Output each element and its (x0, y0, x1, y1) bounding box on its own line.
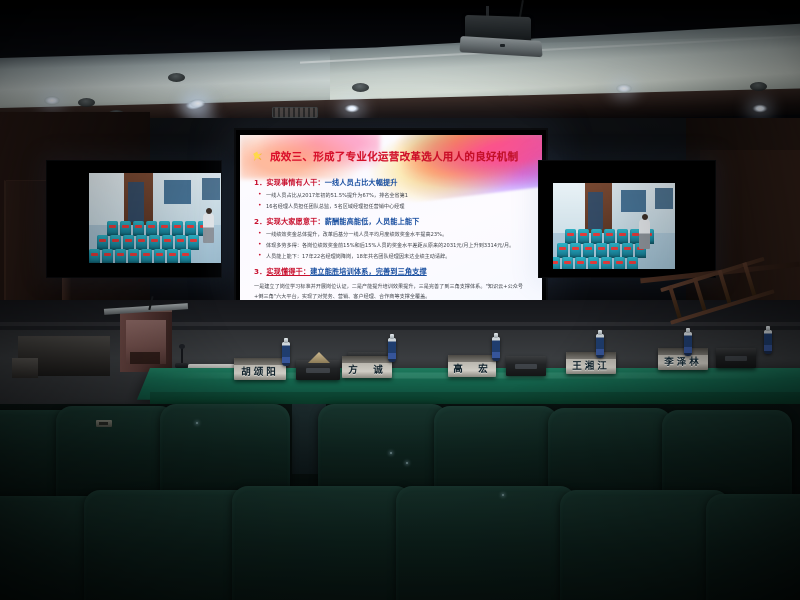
audience-seating-area (0, 404, 800, 600)
feed-seat-row (107, 221, 209, 236)
feed-seat (149, 235, 160, 250)
slide-point-heading: 3．实现懂得干：建立能胜培训体系，完善到三角支撑 (254, 267, 532, 277)
nameplate: 王湘江 (566, 352, 616, 374)
feed-seat (578, 229, 589, 244)
downlight-icon (44, 96, 60, 105)
feed-seat (136, 235, 147, 250)
ladder-step (742, 262, 756, 296)
water-bottle (492, 337, 500, 361)
feed-seat (141, 249, 152, 263)
slide-bullet: 16名经理人员担任团队总监，5名区域经理担任营销中心经理 (254, 203, 532, 210)
feed-window-icon (164, 180, 191, 203)
feed-window-icon (202, 178, 221, 200)
nameplate-label: 李泽林 (664, 354, 702, 368)
slide-bullet: 人员能上能下：17年22名经理岗降岗，18年共名团队经理因未达业绩主动请辞。 (254, 253, 532, 260)
downlight-icon (752, 104, 768, 113)
stage-equipment-case-small (12, 358, 38, 378)
water-bottle (282, 342, 290, 366)
feed-seat (146, 221, 157, 236)
seat-number-tag (96, 420, 112, 427)
ceiling-speaker-icon (750, 82, 767, 91)
downlight-icon (616, 84, 632, 93)
nameplate: 高 宏 (448, 355, 496, 377)
audience-seat (706, 494, 800, 600)
feed-seat (123, 235, 134, 250)
feed-seat (601, 257, 612, 269)
water-bottle (764, 330, 772, 354)
audience-seat (560, 490, 730, 600)
table-microphone (181, 348, 183, 364)
feed-seat (180, 249, 191, 263)
left-led-screen[interactable] (46, 160, 222, 278)
feed-seat (604, 229, 615, 244)
lectern-lower-panel (130, 352, 160, 364)
feed-seat (617, 229, 628, 244)
ceiling-speaker-icon (352, 83, 369, 92)
ceiling-speaker-icon (168, 73, 185, 82)
feed-seat (575, 257, 586, 269)
nameplate-label: 高 宏 (453, 361, 491, 375)
feed-seat (614, 257, 625, 269)
feed-seat (622, 243, 633, 258)
water-bottle (596, 334, 604, 358)
feed-seat (583, 243, 594, 258)
feed-seat (609, 243, 620, 258)
feed-seat (588, 257, 599, 269)
right-led-screen[interactable] (538, 160, 716, 278)
feed-person (203, 213, 214, 243)
feed-seat (110, 235, 121, 250)
feed-door-icon (588, 192, 603, 230)
nameplate: 方 诚 (342, 356, 392, 378)
tabletop-device (716, 348, 756, 368)
feed-seat (591, 229, 602, 244)
feed-seat (154, 249, 165, 263)
feed-seat (107, 221, 118, 236)
ceiling-speaker-icon (78, 98, 95, 107)
feed-seat-row (89, 249, 191, 263)
slide-bullet: 一线绩效奖金总体提升，改革后基分一线人员平均月度绩效奖金水平提高23%。 (254, 231, 532, 238)
slide-body: 1．实现事情有人干：一线人员占比大幅提升 一线人员占比从2017年初的51.5%… (254, 171, 532, 302)
feed-seat (115, 249, 126, 263)
feed-seat (172, 221, 183, 236)
feed-seat-row (97, 235, 199, 250)
left-camera-feed (89, 173, 222, 263)
water-bottle (388, 338, 396, 362)
nameplate: 胡颂阳 (234, 358, 286, 380)
downlight-icon (344, 104, 360, 113)
seat-highlight-glint (196, 422, 198, 424)
feed-seat (175, 235, 186, 250)
feed-seat (557, 243, 568, 258)
feed-seat (562, 257, 573, 269)
tabletop-device (296, 360, 340, 380)
slide-bullet: 体现多劳多得：各岗位绩效奖金前15%和后15%人员的奖金水平差距从原来的2031… (254, 242, 532, 249)
party-emblem-icon (250, 149, 265, 164)
feed-seat (159, 221, 170, 236)
feed-window-icon (621, 190, 645, 212)
presentation-slide: 成效三、形成了专业化运营改革选人用人的良好机制 1．实现事情有人干：一线人员占比… (240, 135, 542, 303)
lectern[interactable] (120, 310, 172, 372)
slide-point-heading: 1．实现事情有人干：一线人员占比大幅提升 (254, 178, 532, 188)
downlight-icon (190, 99, 206, 108)
feed-seat-row (553, 257, 638, 269)
projector-lens-icon (500, 44, 505, 47)
nameplate-label: 王湘江 (572, 358, 610, 372)
slide-title: 成效三、形成了专业化运营改革选人用人的良好机制 (270, 149, 518, 164)
tabletop-device (506, 356, 546, 376)
feed-seat (97, 235, 108, 250)
seat-highlight-glint (390, 452, 392, 454)
slide-title-row: 成效三、形成了专业化运营改革选人用人的良好机制 (250, 146, 534, 166)
seat-highlight-glint (502, 494, 504, 496)
water-bottle (684, 332, 692, 356)
feed-seat (120, 221, 131, 236)
feed-seat (89, 249, 100, 263)
slide-point-heading: 2．实现大家愿意干：薪酬能高能低，人员能上能下 (254, 217, 532, 227)
slide-bullet: 一线人员占比从2017年初的51.5%提升为67%，排名全省第1 (254, 192, 532, 199)
feed-seat (553, 257, 560, 269)
seat-highlight-glint (406, 462, 408, 464)
ceiling-air-vent (272, 107, 318, 118)
feed-wall-light (89, 173, 124, 225)
main-led-screen[interactable]: 成效三、形成了专业化运营改革选人用人的良好机制 1．实现事情有人干：一线人员占比… (234, 128, 548, 310)
audience-seat (232, 486, 412, 600)
feed-person (639, 219, 650, 249)
ladder-step (693, 277, 707, 311)
ladder-step (668, 285, 682, 319)
feed-wall-light (553, 183, 585, 233)
feed-seat (565, 229, 576, 244)
feed-door-icon (128, 182, 144, 222)
feed-seat (570, 243, 581, 258)
audience-seat (84, 490, 254, 600)
feed-seat (188, 235, 199, 250)
feed-seat (627, 257, 638, 269)
feed-seat (596, 243, 607, 258)
feed-seat-row (557, 243, 646, 258)
table-microphone-base (175, 363, 188, 368)
right-camera-feed (553, 183, 675, 269)
feed-seat (102, 249, 113, 263)
conference-hall-scene: 成效三、形成了专业化运营改革选人用人的良好机制 1．实现事情有人干：一线人员占比… (0, 0, 800, 600)
audience-seat (396, 486, 576, 600)
feed-seat (133, 221, 144, 236)
ladder-step (718, 270, 732, 304)
nameplate-label: 胡颂阳 (241, 364, 279, 378)
audience-seat (56, 406, 176, 502)
feed-seat (185, 221, 196, 236)
feed-window-icon (655, 188, 672, 209)
nameplate: 李泽林 (658, 348, 708, 370)
feed-seat (128, 249, 139, 263)
feed-seat (162, 235, 173, 250)
feed-seat (167, 249, 178, 263)
nameplate-label: 方 诚 (348, 362, 386, 376)
